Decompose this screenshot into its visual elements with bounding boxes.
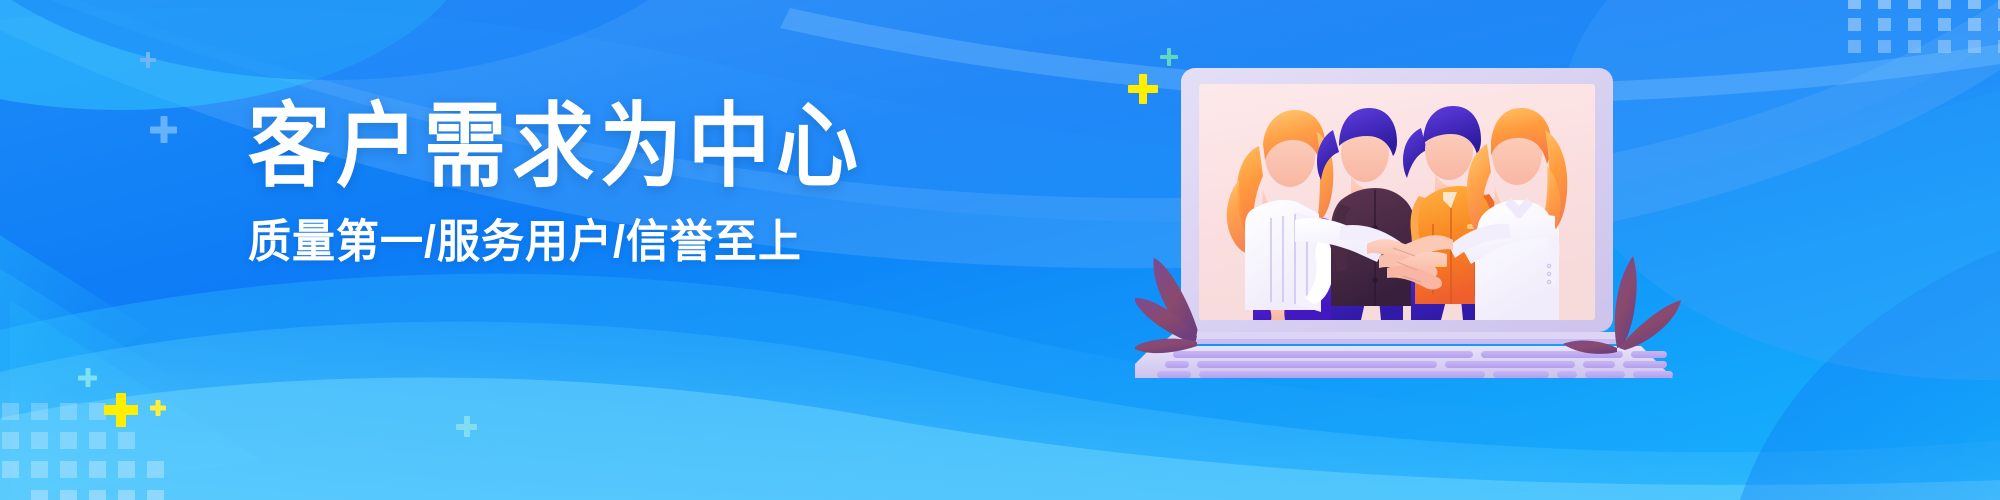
dot-grid-top-right bbox=[1848, 0, 2000, 53]
banner-headline: 客户需求为中心 bbox=[248, 102, 808, 194]
plus-pale-mid-icon bbox=[150, 116, 177, 143]
banner-copy: 客户需求为中心 质量第一/服务用户/信誉至上 bbox=[248, 102, 808, 263]
promo-banner: 客户需求为中心 质量第一/服务用户/信誉至上 bbox=[0, 0, 2000, 500]
banner-subtitle: 质量第一/服务用户/信誉至上 bbox=[248, 220, 808, 266]
plus-yellow-bottom-icon bbox=[104, 393, 138, 427]
keyboard-row-3 bbox=[1157, 371, 1673, 378]
plus-pale-small-icon bbox=[140, 52, 156, 68]
plus-yellow-tiny-icon bbox=[150, 400, 166, 416]
plus-cyan-center-icon bbox=[456, 416, 477, 437]
dot-grid-bottom-left bbox=[2, 403, 164, 500]
plus-cyan-lower-left-icon bbox=[78, 368, 97, 387]
laptop-keyboard bbox=[1157, 351, 1673, 378]
laptop-team-illustration bbox=[1135, 48, 1855, 378]
keyboard-row-2 bbox=[1165, 361, 1667, 368]
